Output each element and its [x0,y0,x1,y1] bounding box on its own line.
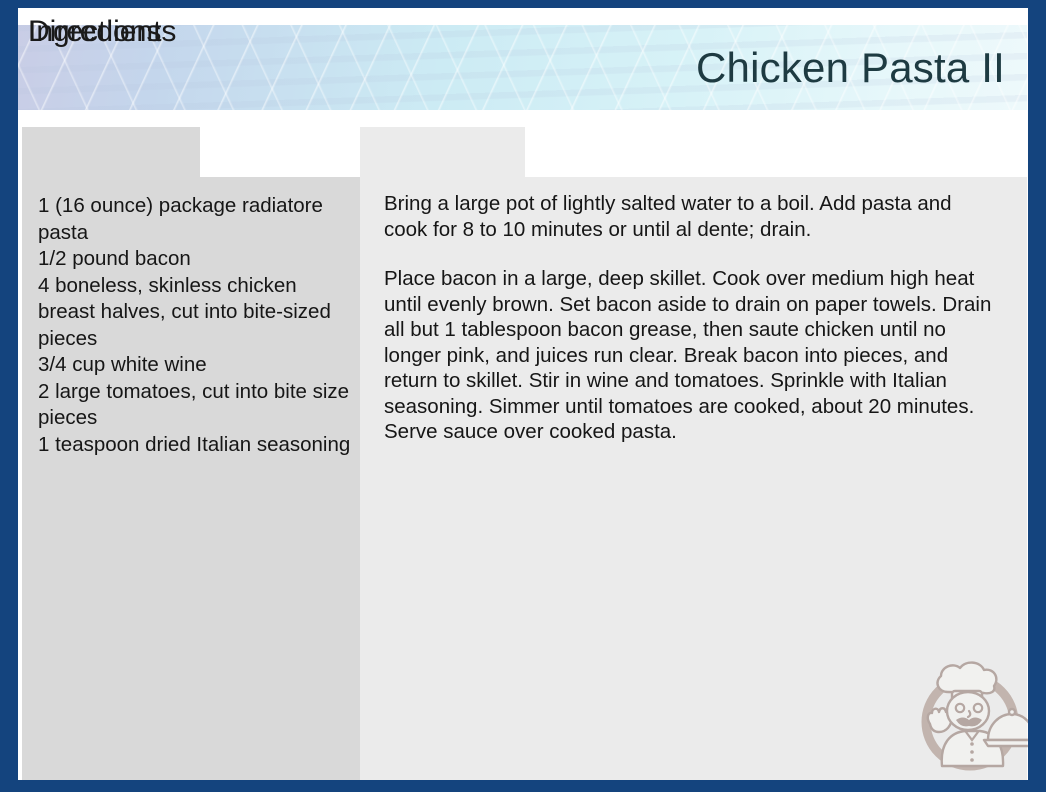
chef-mascot-logo [908,648,1028,780]
recipe-card-slide: Chicken Pasta II [0,0,1046,792]
slide-page: Chicken Pasta II [18,8,1028,780]
list-item: 4 boneless, skinless chicken breast halv… [22,273,362,353]
directions-tab[interactable] [360,127,525,177]
ingredients-tab[interactable] [22,127,200,177]
list-item: 3/4 cup white wine [22,352,362,379]
direction-paragraph: Bring a large pot of lightly salted wate… [384,191,992,242]
direction-paragraph: Place bacon in a large, deep skillet. Co… [384,266,992,445]
list-item: 1 teaspoon dried Italian seasoning [22,432,362,459]
ingredients-list: 1 (16 ounce) package radiatore pasta 1/2… [22,193,362,458]
list-item: 1/2 pound bacon [22,246,362,273]
recipe-title: Chicken Pasta II [696,44,1005,92]
list-item: 1 (16 ounce) package radiatore pasta [22,193,362,246]
directions-tab-label: Directions [28,15,161,49]
list-item: 2 large tomatoes, cut into bite size pie… [22,379,362,432]
directions-body: Bring a large pot of lightly salted wate… [360,191,1000,445]
